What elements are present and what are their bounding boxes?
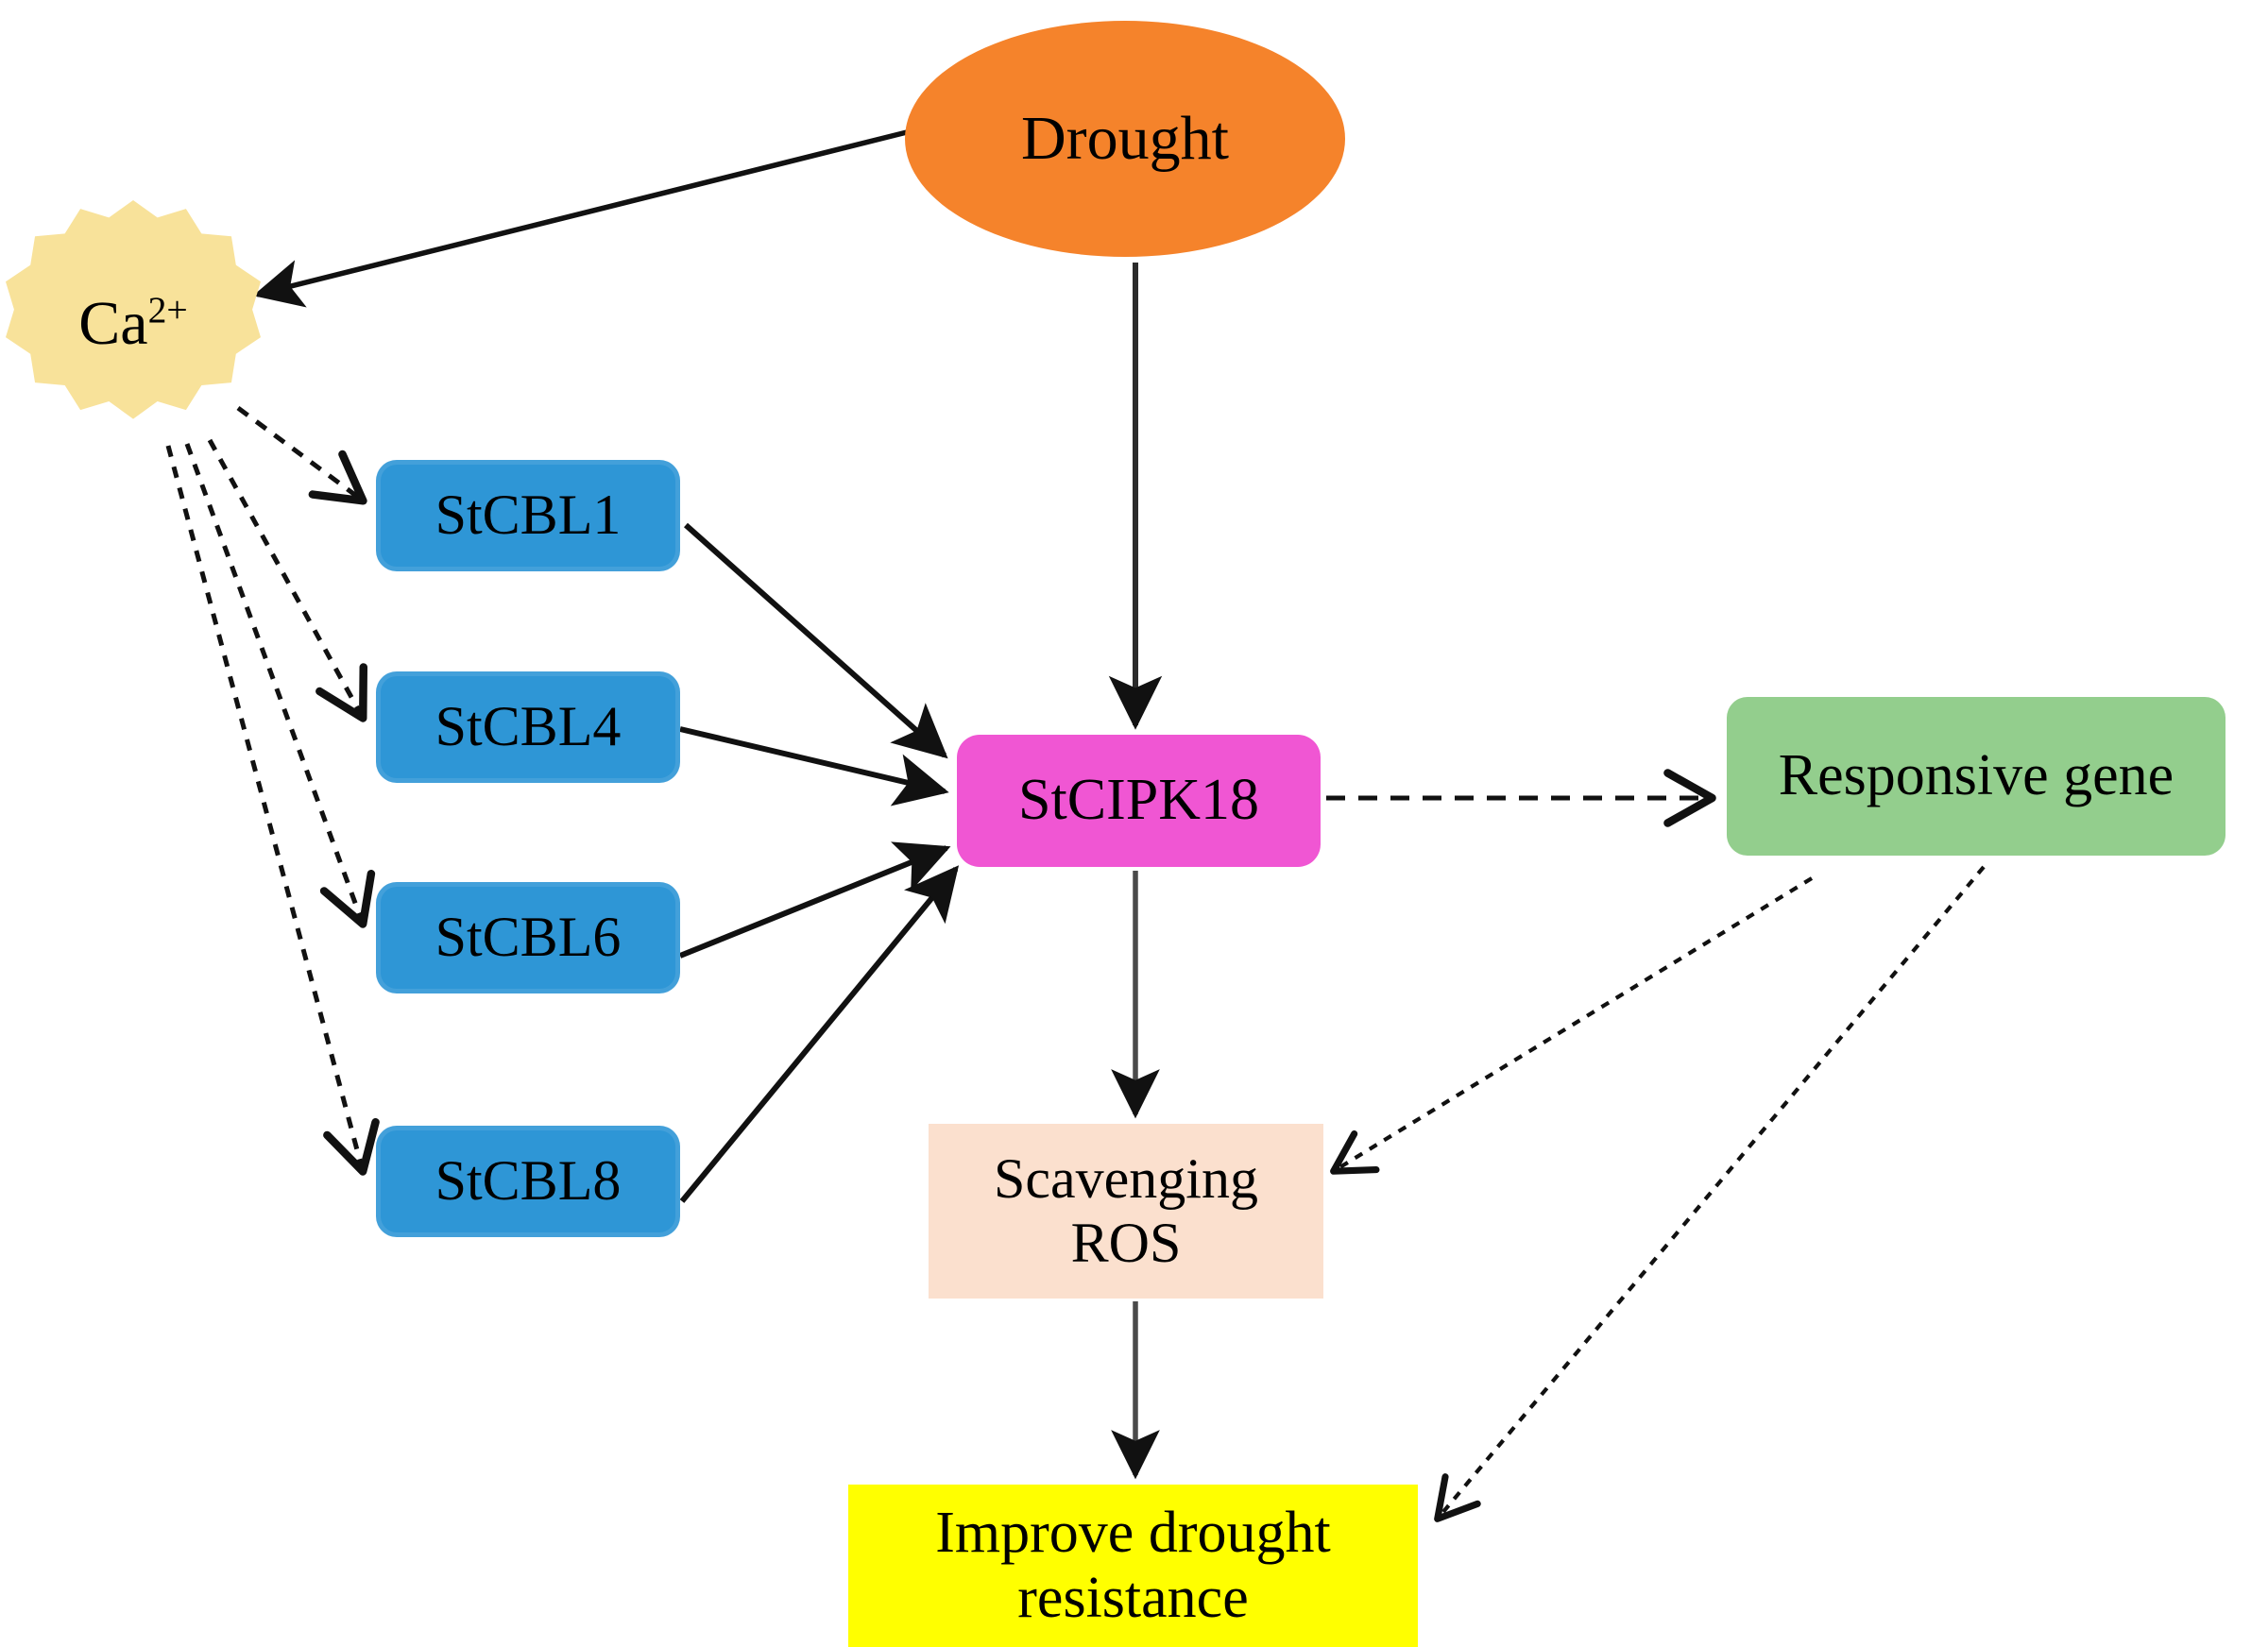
- node-calcium-label-base: Ca: [78, 289, 147, 358]
- edge-responsive-gene-to-scavenging-ros: [1334, 878, 1812, 1171]
- node-improve-drought-resistance[interactable]: Improve drought resistance: [848, 1485, 1418, 1647]
- node-stcbl8[interactable]: StCBL8: [376, 1126, 680, 1237]
- node-stcbl8-label: StCBL8: [435, 1149, 622, 1213]
- node-scavenging-ros-label-line2: ROS: [1071, 1212, 1182, 1275]
- edge-stcbl8-to-cipk: [682, 869, 956, 1201]
- node-calcium-label: Ca2+: [78, 289, 187, 359]
- node-stcbl1-label: StCBL1: [435, 484, 622, 547]
- node-stcipk18-label: StCIPK18: [1018, 768, 1259, 833]
- edge-calcium-to-stcbl8: [168, 446, 363, 1171]
- edge-calcium-to-stcbl4: [210, 440, 363, 718]
- pathway-diagram-canvas: Drought Ca2+ StCBL1 StCBL4 StCBL6 StCBL8…: [0, 0, 2268, 1647]
- node-stcbl6-label: StCBL6: [435, 906, 622, 969]
- node-calcium[interactable]: Ca2+: [6, 200, 261, 448]
- edge-stcbl6-to-cipk: [680, 848, 946, 956]
- edge-calcium-to-stcbl6: [187, 444, 363, 924]
- node-stcbl4[interactable]: StCBL4: [376, 671, 680, 783]
- node-responsive-gene-label: Responsive gene: [1779, 743, 2174, 808]
- node-drought[interactable]: Drought: [905, 21, 1345, 257]
- node-stcipk18[interactable]: StCIPK18: [957, 735, 1321, 867]
- node-improve-label-line2: resistance: [1017, 1566, 1248, 1631]
- edge-stcbl1-to-cipk: [686, 525, 945, 756]
- node-improve-label-line1: Improve drought: [935, 1501, 1330, 1566]
- node-stcbl6[interactable]: StCBL6: [376, 882, 680, 993]
- node-scavenging-ros-label-line1: Scavenging: [994, 1147, 1258, 1211]
- node-stcbl1[interactable]: StCBL1: [376, 460, 680, 571]
- node-scavenging-ros[interactable]: Scavenging ROS: [929, 1124, 1323, 1299]
- node-stcbl4-label: StCBL4: [435, 695, 622, 758]
- edge-calcium-to-stcbl1: [238, 408, 363, 501]
- node-drought-label: Drought: [1021, 104, 1229, 174]
- edge-drought-to-calcium: [257, 132, 907, 295]
- edge-responsive-gene-to-improve: [1438, 867, 1984, 1519]
- node-responsive-gene[interactable]: Responsive gene: [1727, 697, 2225, 856]
- node-calcium-label-superscript: 2+: [148, 289, 188, 331]
- edge-stcbl4-to-cipk: [680, 729, 945, 791]
